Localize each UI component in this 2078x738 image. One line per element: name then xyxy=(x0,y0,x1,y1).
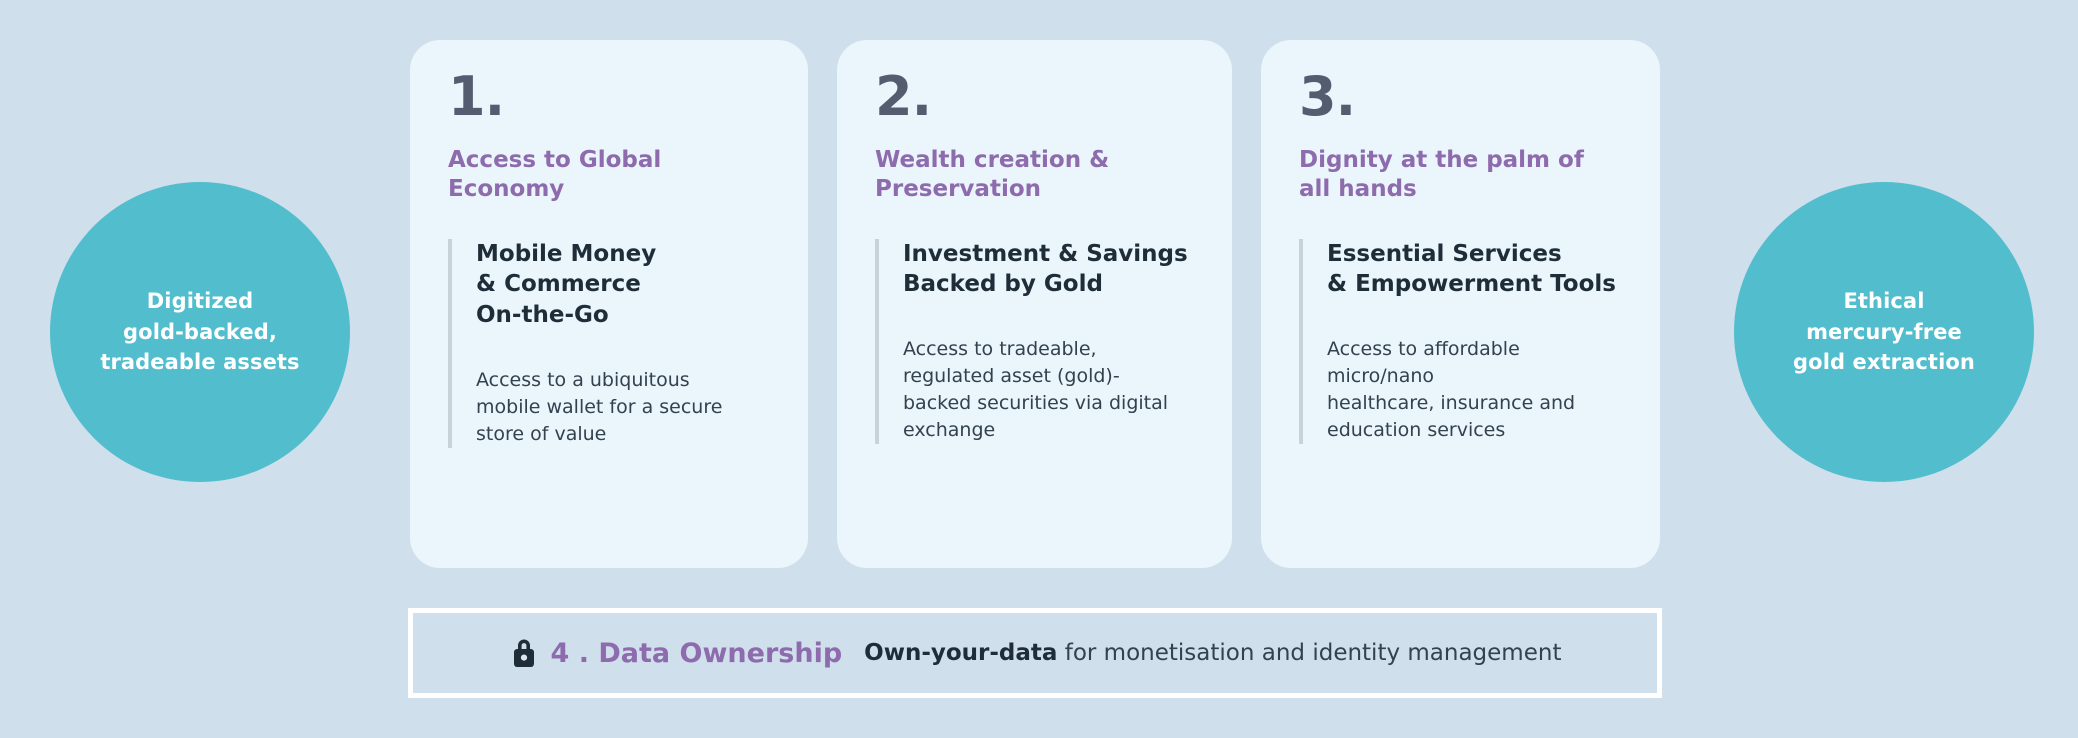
card-3-number: 3. xyxy=(1299,70,1622,124)
data-ownership-strong-text: Own-your-data xyxy=(864,640,1057,666)
data-ownership-banner: 4 . Data Ownership Own-your-data for mon… xyxy=(408,608,1662,698)
lock-icon xyxy=(509,636,539,670)
card-2-heading: Investment & Savings Backed by Gold xyxy=(903,239,1194,300)
digitized-assets-circle-label: Digitized gold-backed, tradeable assets xyxy=(100,286,299,377)
infographic-canvas: Digitized gold-backed, tradeable assets … xyxy=(0,0,2078,738)
data-ownership-banner-content: 4 . Data Ownership Own-your-data for mon… xyxy=(509,636,1562,670)
ethical-extraction-circle: Ethical mercury-free gold extraction xyxy=(1734,182,2034,482)
card-1-body: Mobile Money & Commerce On-the-Go Access… xyxy=(448,239,770,448)
data-ownership-label: 4 . Data Ownership xyxy=(551,638,843,669)
card-2-description: Access to tradeable, regulated asset (go… xyxy=(903,336,1194,444)
card-3-heading: Essential Services & Empowerment Tools xyxy=(1327,239,1622,300)
data-ownership-rest-text: for monetisation and identity management xyxy=(1057,640,1561,666)
card-1-heading: Mobile Money & Commerce On-the-Go xyxy=(476,239,770,331)
card-2-number: 2. xyxy=(875,70,1194,124)
card-3-body: Essential Services & Empowerment Tools A… xyxy=(1299,239,1622,444)
benefit-card-2: 2. Wealth creation & Preservation Invest… xyxy=(837,40,1232,568)
card-1-description: Access to a ubiquitous mobile wallet for… xyxy=(476,367,770,448)
card-1-subtitle: Access to Global Economy xyxy=(448,146,770,205)
ethical-extraction-circle-label: Ethical mercury-free gold extraction xyxy=(1793,286,1975,377)
card-2-subtitle: Wealth creation & Preservation xyxy=(875,146,1194,205)
benefit-card-1: 1. Access to Global Economy Mobile Money… xyxy=(410,40,808,568)
benefit-card-3: 3. Dignity at the palm of all hands Esse… xyxy=(1261,40,1660,568)
card-1-number: 1. xyxy=(448,70,770,124)
card-3-subtitle: Dignity at the palm of all hands xyxy=(1299,146,1622,205)
card-3-description: Access to affordable micro/nano healthca… xyxy=(1327,336,1622,444)
digitized-assets-circle: Digitized gold-backed, tradeable assets xyxy=(50,182,350,482)
card-2-body: Investment & Savings Backed by Gold Acce… xyxy=(875,239,1194,444)
